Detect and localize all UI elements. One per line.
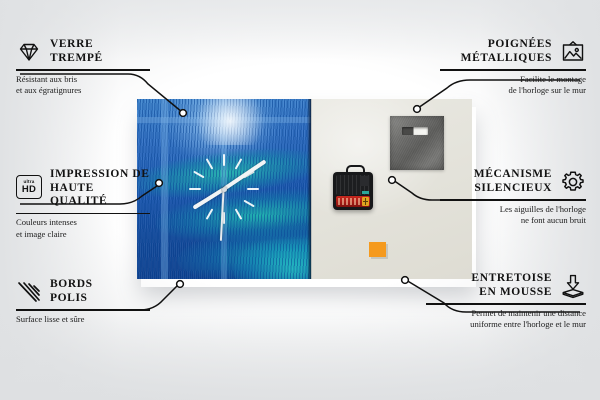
hanger-slot [402, 127, 428, 135]
battery-label [338, 198, 362, 205]
battery-plus-terminal [362, 197, 369, 206]
feature-desc-line2: et image claire [16, 229, 67, 239]
feature-divider [426, 303, 586, 305]
feature-description: Résistant aux bris et aux égratignures [16, 74, 150, 97]
feature-desc-line2: et aux égratignures [16, 85, 81, 95]
feature-header: POIGNÉES MÉTALLIQUES [440, 38, 586, 65]
diagonal-lines-icon [16, 279, 42, 305]
feature-description: Les aiguilles de l'horloge ne font aucun… [440, 204, 586, 227]
diamond-icon [16, 39, 42, 65]
feature-header: ultra HD IMPRESSION DE HAUTE QUALITÉ [16, 168, 150, 209]
clock-grid-line-v1 [161, 99, 168, 279]
feature-title-line1: ENTRETOISE [471, 272, 552, 284]
feature-title-line1: POIGNÉES [488, 38, 552, 50]
feature-title-line2: SILENCIEUX [474, 182, 552, 194]
feature-silent-mechanism: MÉCANISME SILENCIEUX Les aiguilles de l'… [440, 168, 586, 227]
feature-divider [16, 213, 150, 215]
framed-picture-icon [560, 39, 586, 65]
feature-description: Surface lisse et sûre [16, 314, 150, 326]
feature-title-line2: HAUTE QUALITÉ [50, 182, 107, 208]
feature-desc-line2: ne font aucun bruit [521, 215, 586, 225]
feature-divider [16, 69, 150, 71]
feature-header: ENTRETOISE EN MOUSSE [426, 272, 586, 299]
feature-divider [16, 309, 150, 311]
product-image [137, 99, 472, 279]
feature-title-line2: POLIS [50, 292, 88, 304]
feature-desc-line1: Surface lisse et sûre [16, 314, 85, 324]
battery [336, 196, 370, 207]
ultra-hd-icon: ultra HD [16, 175, 42, 201]
feature-divider [440, 69, 586, 71]
feature-description: Couleurs intenses et image claire [16, 217, 150, 240]
foam-spacer [369, 242, 386, 257]
feature-tempered-glass: VERRE TREMPÉ Résistant aux bris et aux é… [16, 38, 150, 97]
feature-header: BORDS POLIS [16, 278, 150, 305]
feature-desc-line1: Couleurs intenses [16, 217, 77, 227]
feature-desc-line2: uniforme entre l'horloge et le mur [470, 319, 586, 329]
clock-front-face [137, 99, 311, 279]
feature-desc-line1: Les aiguilles de l'horloge [500, 204, 586, 214]
clock-center-cap [222, 187, 227, 192]
feature-high-quality-print: ultra HD IMPRESSION DE HAUTE QUALITÉ Cou… [16, 168, 150, 240]
feature-title-line1: VERRE [50, 38, 93, 50]
feature-description: Facilite le montage de l'horloge sur le … [440, 74, 586, 97]
infographic-canvas: VERRE TREMPÉ Résistant aux bris et aux é… [0, 0, 600, 400]
feature-desc-line1: Facilite le montage [520, 74, 586, 84]
panel-divider [311, 99, 312, 279]
feature-header: MÉCANISME SILENCIEUX [440, 168, 586, 195]
feature-title: VERRE TREMPÉ [50, 38, 103, 65]
press-down-pad-icon [560, 273, 586, 299]
feature-desc-line1: Résistant aux bris [16, 74, 77, 84]
feature-header: VERRE TREMPÉ [16, 38, 150, 65]
mechanism-knob [360, 176, 369, 186]
clock-mechanism [333, 172, 373, 210]
feature-description: Permet de maintenir une distance uniform… [426, 308, 586, 331]
clock-highlight-glow [195, 99, 265, 145]
ultra-hd-main-text: HD [22, 185, 36, 195]
feature-title: IMPRESSION DE HAUTE QUALITÉ [50, 168, 150, 209]
feature-title-line2: MÉTALLIQUES [461, 52, 552, 64]
feature-polished-edges: BORDS POLIS Surface lisse et sûre [16, 278, 150, 325]
feature-title-line2: TREMPÉ [50, 52, 103, 64]
feature-title-line1: MÉCANISME [474, 168, 552, 180]
feature-desc-line1: Permet de maintenir une distance [471, 308, 586, 318]
feature-title: BORDS POLIS [50, 278, 93, 305]
metal-hanger-plate [390, 116, 444, 170]
gear-icon [560, 169, 586, 195]
feature-foam-spacer: ENTRETOISE EN MOUSSE Permet de maintenir… [426, 272, 586, 331]
feature-title-line1: BORDS [50, 278, 93, 290]
feature-title: POIGNÉES MÉTALLIQUES [461, 38, 552, 65]
hanger-metal-grain [390, 116, 444, 170]
feature-divider [440, 199, 586, 201]
feature-title-line1: IMPRESSION DE [50, 168, 150, 180]
feature-title: MÉCANISME SILENCIEUX [474, 168, 552, 195]
mechanism-label-strip [362, 191, 369, 194]
feature-metal-handles: POIGNÉES MÉTALLIQUES Facilite le montage… [440, 38, 586, 97]
feature-desc-line2: de l'horloge sur le mur [509, 85, 586, 95]
feature-title-line2: EN MOUSSE [479, 286, 552, 298]
feature-title: ENTRETOISE EN MOUSSE [471, 272, 552, 299]
